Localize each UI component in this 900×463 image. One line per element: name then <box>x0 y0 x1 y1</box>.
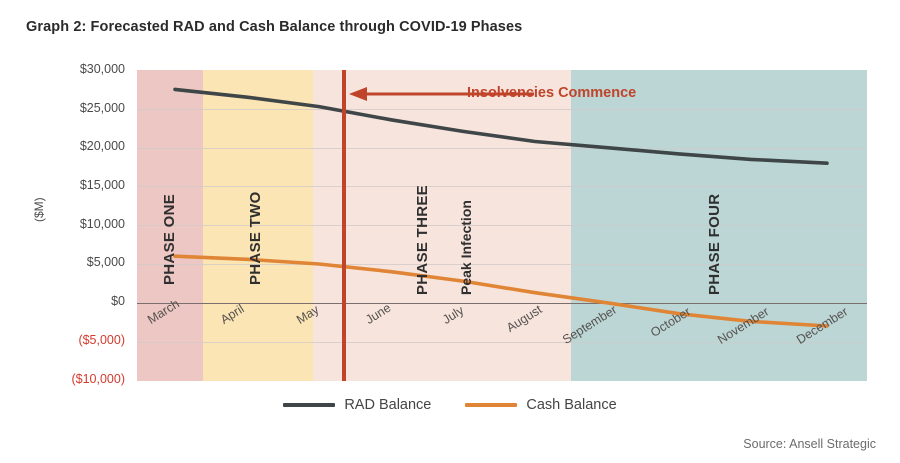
y-tick-0: $0 <box>111 294 125 308</box>
phase-label-two: PHASE TWO <box>247 191 264 285</box>
y-tick-15000: $15,000 <box>80 178 125 192</box>
y-tick-10000: $10,000 <box>80 217 125 231</box>
legend-swatch-rad-balance <box>283 403 335 407</box>
y-tick-30000: $30,000 <box>80 62 125 76</box>
phase-label-one: PHASE ONE <box>161 194 178 285</box>
legend-label-cash-balance: Cash Balance <box>526 397 616 413</box>
chart-plot-area: Insolvencies Commence PHASE ONE PHASE TW… <box>137 70 867 381</box>
source-note: Source: Ansell Strategic <box>743 437 876 451</box>
y-tick-5000: $5,000 <box>87 255 125 269</box>
legend-item-rad-balance[interactable]: RAD Balance <box>283 397 431 413</box>
insolvency-annotation-text: Insolvencies Commence <box>467 85 636 101</box>
phase-label-three: PHASE THREE <box>414 185 431 295</box>
legend-item-cash-balance[interactable]: Cash Balance <box>465 397 616 413</box>
phase-three-sub-label: Peak Infection <box>458 200 474 295</box>
insolvency-marker-line <box>342 70 346 381</box>
y-tick-25000: $25,000 <box>80 101 125 115</box>
series-cash-balance <box>175 256 827 326</box>
y-tick-neg5000: ($5,000) <box>78 333 125 347</box>
legend-label-rad-balance: RAD Balance <box>344 397 431 413</box>
legend-swatch-cash-balance <box>465 403 517 407</box>
y-tick-neg10000: ($10,000) <box>71 372 125 386</box>
y-axis-label: ($M) <box>32 197 46 222</box>
chart-legend: RAD Balance Cash Balance <box>0 397 900 413</box>
phase-label-four: PHASE FOUR <box>706 194 723 295</box>
page-title: Graph 2: Forecasted RAD and Cash Balance… <box>26 19 522 35</box>
y-tick-20000: $20,000 <box>80 139 125 153</box>
